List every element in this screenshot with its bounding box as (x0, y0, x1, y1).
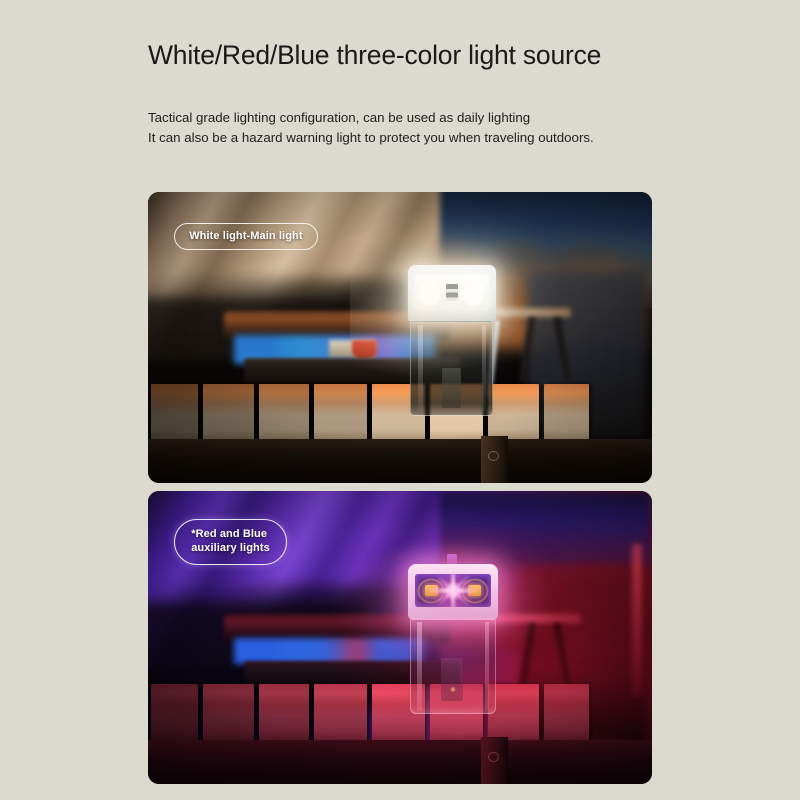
photo-white-light[interactable]: White light-Main light (148, 192, 652, 483)
led-emitter-left (419, 279, 441, 306)
badge-line-2: auxiliary lights (191, 541, 270, 556)
lantern-transparent-body (410, 321, 493, 416)
inner-glow-spot (450, 686, 457, 693)
badge-white-light: White light-Main light (174, 223, 317, 250)
table-leg-knob (488, 752, 499, 763)
page-description: Tactical grade lighting configuration, c… (148, 108, 594, 148)
table-frame-edge (148, 439, 652, 483)
red-cup (352, 340, 377, 359)
camp-table-arm (486, 614, 582, 623)
bokeh-led-strip (234, 638, 426, 664)
description-line-1: Tactical grade lighting configuration, c… (148, 108, 594, 128)
lantern-head (408, 265, 496, 322)
red-light-streak (632, 544, 642, 696)
page-title: White/Red/Blue three-color light source (148, 40, 601, 71)
lantern-transparent-body (410, 618, 495, 714)
lantern-inner-core (442, 368, 461, 407)
lantern-inner-core (441, 658, 463, 701)
badge-red-blue-light: *Red and Blue auxiliary lights (174, 519, 287, 565)
lantern-lens (415, 574, 491, 607)
lantern-head (408, 564, 499, 619)
product-feature-page: White/Red/Blue three-color light source … (0, 0, 800, 800)
led-chip-center (446, 284, 458, 301)
lantern-lens (415, 275, 489, 311)
lantern-white-light (408, 265, 496, 416)
description-line-2: It can also be a hazard warning light to… (148, 128, 594, 148)
badge-line-1: *Red and Blue (191, 527, 270, 542)
led-emitter-right (462, 279, 484, 306)
photo-red-blue-light[interactable]: *Red and Blue auxiliary lights (148, 491, 652, 784)
table-frame-edge (148, 740, 652, 784)
lantern-red-blue-light (408, 564, 499, 713)
lens-flare-starburst (430, 574, 476, 607)
